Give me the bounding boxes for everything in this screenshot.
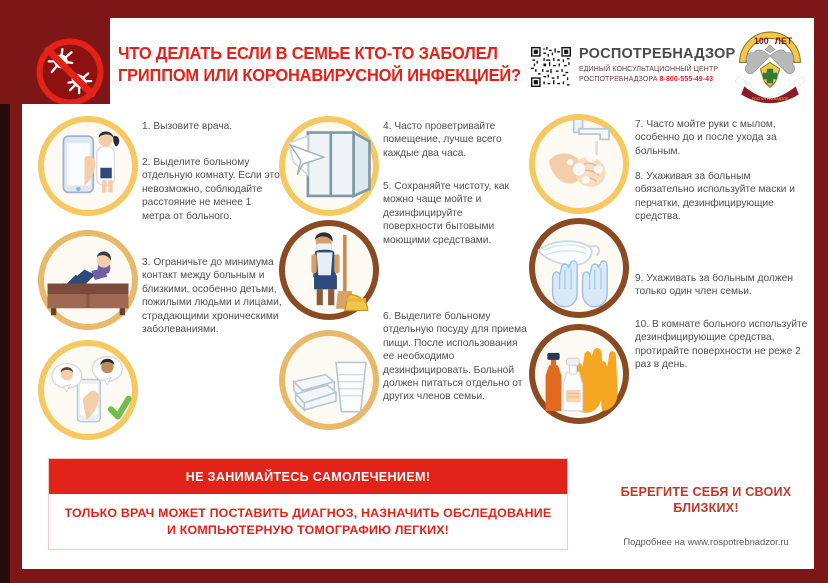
step-1-text: 1. Вызовите врача.	[142, 120, 277, 133]
qr-code-icon[interactable]	[530, 46, 572, 88]
consult-center-org: РОСПОТРЕБНАДЗОРА	[579, 76, 657, 83]
handwashing-tap-icon	[529, 114, 629, 214]
disinfectant-bottles-gloves-icon	[529, 324, 629, 424]
emblem-years-word: ЛЕТ	[775, 36, 793, 46]
emblem-ribbon-text: РОСПОТРЕБНАДЗОР	[752, 97, 789, 101]
poster-root: ЧТО ДЕЛАТЬ ЕСЛИ В СЕМЬЕ КТО-ТО ЗАБОЛЕЛ Г…	[0, 0, 828, 583]
steps-column-3: 7. Часто мойте руки с мылом, особенно до…	[527, 104, 814, 444]
take-care-line-2: БЛИЗКИХ!	[602, 500, 810, 516]
poster-header: ЧТО ДЕЛАТЬ ЕСЛИ В СЕМЬЕ КТО-ТО ЗАБОЛЕЛ Г…	[22, 18, 814, 104]
doctor-phone-call-icon	[38, 116, 138, 216]
poster-footer: НЕ ЗАНИМАЙТЕСЬ САМОЛЕЧЕНИЕМ! ТОЛЬКО ВРАЧ…	[22, 444, 814, 569]
steps-column-2: 4. Часто проветривайте помещение, лучше …	[277, 104, 527, 444]
video-call-contact-icon	[38, 340, 138, 440]
warning-white-line-1: ТОЛЬКО ВРАЧ МОЖЕТ ПОСТАВИТЬ ДИАГНОЗ, НАЗ…	[65, 506, 552, 520]
consult-center-line-2: РОСПОТРЕБНАДЗОРА 8-800-555-49-43	[579, 75, 735, 85]
step-5-text: 5. Сохраняйте чистоту, как можно чаще мо…	[383, 180, 523, 247]
step-4-text: 4. Часто проветривайте помещение, лучше …	[383, 120, 523, 160]
steps-area: 1. Вызовите врача. 2. Выделите больному …	[22, 104, 814, 444]
rospotrebnadzor-emblem-icon: 100 ЛЕТ РОСПОТРЕБНАДЗОР	[730, 24, 810, 104]
steps-column-1: 1. Вызовите врача. 2. Выделите больному …	[30, 104, 285, 444]
take-care-message: БЕРЕГИТЕ СЕБЯ И СВОИХ БЛИЗКИХ!	[602, 484, 810, 516]
step-6-text: 6. Выделите больному отдельную посуду дл…	[383, 310, 528, 404]
person-resting-sofa-icon	[38, 230, 138, 330]
warning-red-text: НЕ ЗАНИМАЙТЕСЬ САМОЛЕЧЕНИЕМ!	[186, 470, 430, 484]
step-7-text: 7. Часто мойте руки с мылом, особенно до…	[635, 118, 810, 158]
title-line-1: ЧТО ДЕЛАТЬ ЕСЛИ В СЕМЬЕ КТО-ТО ЗАБОЛЕЛ	[118, 42, 494, 64]
step-3-text: 3. Ограничьте до минимума контакт между …	[142, 256, 282, 336]
title-line-2: ГРИППОМ ИЛИ КОРОНАВИРУСНОЙ ИНФЕКЦИЕЙ?	[118, 64, 494, 86]
take-care-line-1: БЕРЕГИТЕ СЕБЯ И СВОИХ	[602, 484, 810, 500]
separate-dishes-icon	[279, 330, 379, 430]
more-info-link[interactable]: Подробнее на www.rospotrebnadzor.ru	[602, 536, 810, 547]
mask-and-gloves-icon	[529, 218, 629, 318]
rospotrebnadzor-text: РОСПОТРЕБНАДЗОР ЕДИНЫЙ КОНСУЛЬТАЦИОННЫЙ …	[579, 46, 735, 84]
step-10-text: 10. В комнате больного используйте дезин…	[635, 318, 810, 372]
poster-title: ЧТО ДЕЛАТЬ ЕСЛИ В СЕМЬЕ КТО-ТО ЗАБОЛЕЛ Г…	[118, 42, 518, 86]
step-8-text: 8. Ухаживая за больным обязательно испол…	[635, 170, 810, 224]
cleaning-woman-mop-icon	[279, 220, 379, 320]
warning-white-panel: ТОЛЬКО ВРАЧ МОЖЕТ ПОСТАВИТЬ ДИАГНОЗ, НАЗ…	[49, 494, 567, 549]
step-2-text: 2. Выделите больному отдельную комнату. …	[142, 156, 282, 223]
warning-white-line-2: И КОМПЬЮТЕРНУЮ ТОМОГРАФИЮ ЛЕГКИХ!	[167, 523, 449, 537]
open-window-airing-icon	[279, 116, 379, 216]
consult-center-line-1: ЕДИНЫЙ КОНСУЛЬТАЦИОННЫЙ ЦЕНТР	[579, 65, 735, 75]
rospotrebnadzor-block: РОСПОТРЕБНАДЗОР ЕДИНЫЙ КОНСУЛЬТАЦИОННЫЙ …	[530, 46, 735, 88]
self-treatment-warning-box: НЕ ЗАНИМАЙТЕСЬ САМОЛЕЧЕНИЕМ! ТОЛЬКО ВРАЧ…	[48, 458, 568, 550]
org-name: РОСПОТРЕБНАДЗОР	[579, 46, 735, 62]
hotline-phone[interactable]: 8-800-555-49-43	[660, 76, 714, 83]
emblem-years-number: 100	[754, 36, 769, 46]
step-9-text: 9. Ухаживать за больным должен только од…	[635, 272, 810, 299]
virus-prohibited-icon	[32, 34, 108, 110]
warning-red-banner: НЕ ЗАНИМАЙТЕСЬ САМОЛЕЧЕНИЕМ!	[49, 459, 567, 494]
